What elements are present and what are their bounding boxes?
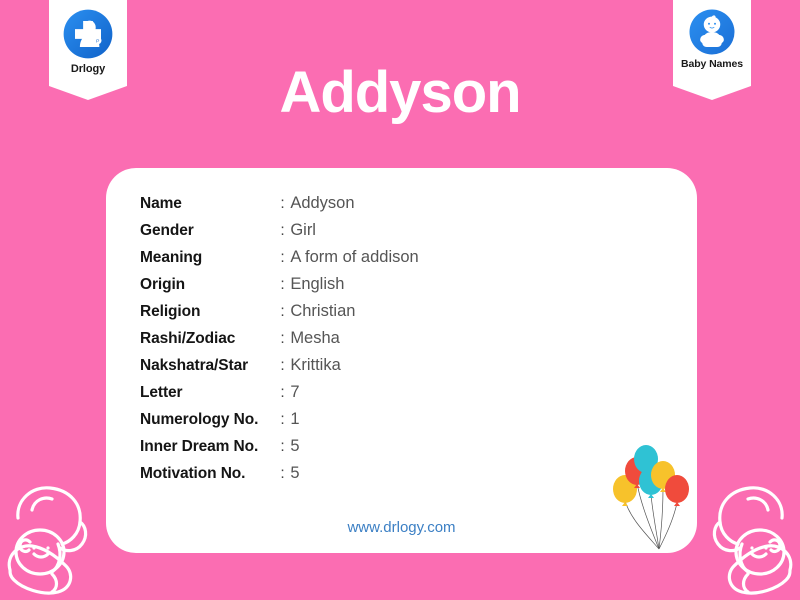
row-label: Gender: [140, 217, 258, 244]
row-value: 5: [290, 460, 418, 487]
row-label: Name: [140, 190, 258, 217]
row-value: Krittika: [290, 352, 418, 379]
table-row-gender: Gender : Girl: [140, 217, 419, 244]
row-separator: :: [258, 325, 290, 352]
baby-icon: [688, 8, 736, 56]
page-title: Addyson: [0, 64, 800, 122]
row-separator: :: [258, 352, 290, 379]
row-label: Motivation No.: [140, 460, 258, 487]
row-label: Letter: [140, 379, 258, 406]
row-separator: :: [258, 190, 290, 217]
row-value: 7: [290, 379, 418, 406]
row-separator: :: [258, 433, 290, 460]
table-row-meaning: Meaning : A form of addison: [140, 244, 419, 271]
row-separator: :: [258, 298, 290, 325]
name-details-table: Name : Addyson Gender : Girl Meaning : A…: [140, 190, 419, 487]
table-row-letter: Letter : 7: [140, 379, 419, 406]
table-body: Name : Addyson Gender : Girl Meaning : A…: [140, 190, 419, 487]
doctor-stethoscope-cross-icon: P: [62, 8, 114, 60]
name-details-card: Name : Addyson Gender : Girl Meaning : A…: [106, 168, 697, 553]
row-label: Meaning: [140, 244, 258, 271]
row-label: Origin: [140, 271, 258, 298]
row-separator: :: [258, 379, 290, 406]
row-label: Numerology No.: [140, 406, 258, 433]
table-row-name: Name : Addyson: [140, 190, 419, 217]
table-row-nakshatra-star: Nakshatra/Star : Krittika: [140, 352, 419, 379]
website-link[interactable]: www.drlogy.com: [106, 519, 697, 536]
row-value: Christian: [290, 298, 418, 325]
svg-text:P: P: [96, 39, 99, 45]
row-value: English: [290, 271, 418, 298]
row-label: Religion: [140, 298, 258, 325]
balloons-illustration: [601, 445, 697, 553]
row-label: Nakshatra/Star: [140, 352, 258, 379]
row-value: Girl: [290, 217, 418, 244]
table-row-inner-dream-no: Inner Dream No. : 5: [140, 433, 419, 460]
table-row-numerology-no: Numerology No. : 1: [140, 406, 419, 433]
row-separator: :: [258, 406, 290, 433]
row-separator: :: [258, 244, 290, 271]
row-value: 1: [290, 406, 418, 433]
row-separator: :: [258, 271, 290, 298]
row-label: Inner Dream No.: [140, 433, 258, 460]
row-value: Mesha: [290, 325, 418, 352]
table-row-rashi-zodiac: Rashi/Zodiac : Mesha: [140, 325, 419, 352]
row-separator: :: [258, 217, 290, 244]
row-label: Rashi/Zodiac: [140, 325, 258, 352]
mother-and-baby-icon-left: [0, 470, 106, 600]
row-separator: :: [258, 460, 290, 487]
table-row-religion: Religion : Christian: [140, 298, 419, 325]
row-value: 5: [290, 433, 418, 460]
table-row-motivation-no: Motivation No. : 5: [140, 460, 419, 487]
table-row-origin: Origin : English: [140, 271, 419, 298]
row-value: Addyson: [290, 190, 418, 217]
row-value: A form of addison: [290, 244, 418, 271]
mother-and-baby-icon-right: [694, 470, 800, 600]
